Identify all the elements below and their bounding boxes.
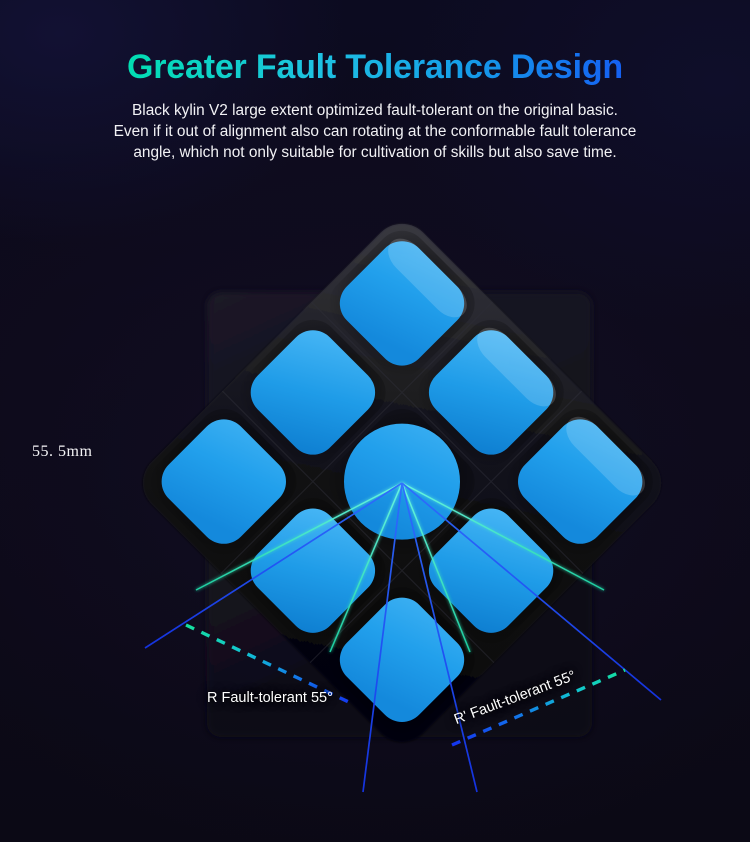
dimension-indicator: 55. 5mm (28, 278, 148, 660)
page-subtitle: Black kylin V2 large extent optimized fa… (55, 100, 695, 163)
subtitle-line-3: angle, which not only suitable for culti… (55, 142, 695, 163)
dimension-label: 55. 5mm (32, 443, 92, 461)
subtitle-line-1: Black kylin V2 large extent optimized fa… (55, 100, 695, 121)
page-title: Greater Fault Tolerance Design (0, 48, 750, 87)
dimension-line (28, 278, 148, 660)
subtitle-line-2: Even if it out of alignment also can rot… (55, 121, 695, 142)
annotation-label-r: R Fault-tolerant 55° (207, 690, 333, 706)
page-root: Greater Fault Tolerance Design Black kyl… (0, 0, 750, 842)
